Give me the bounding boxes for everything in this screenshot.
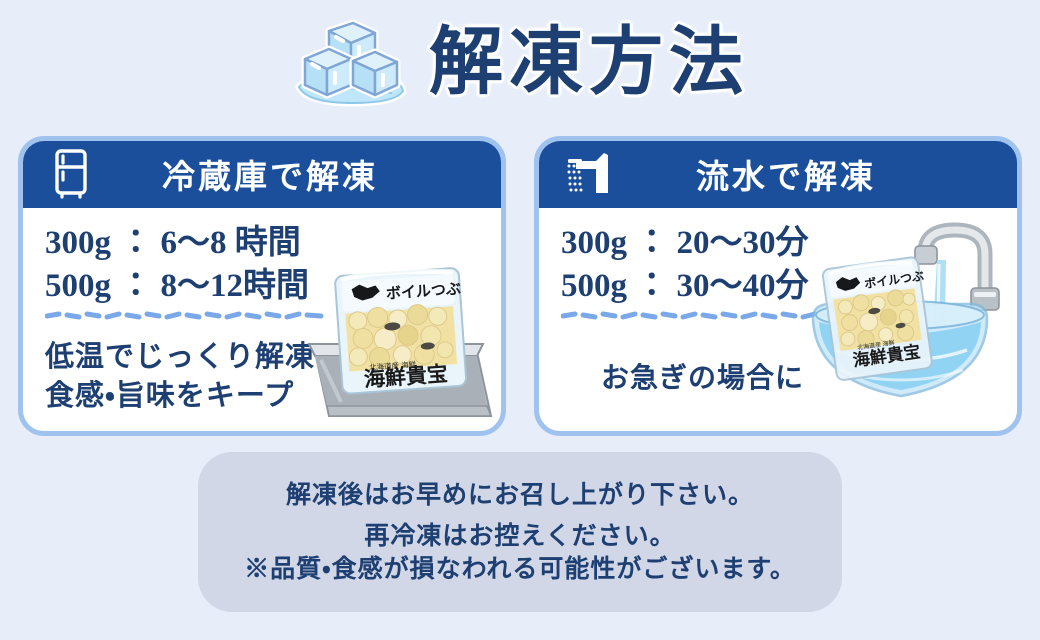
ice-cubes-icon xyxy=(291,17,411,109)
notice-line-1: 解凍後はお早めにお召し上がり下さい。 xyxy=(286,480,754,511)
card-fridge: 冷蔵庫で解凍 300g ： 6〜8 時間 500g ： 8〜12時間 低温でじっ… xyxy=(18,136,506,436)
notice-panel: 解凍後はお早めにお召し上がり下さい。 再冷凍はお控えください。 ※品質・食感が損… xyxy=(198,452,842,612)
card-running-water-body: 300g ： 20〜30分 500g ： 30〜40分 お急ぎの場合に xyxy=(539,208,1017,434)
package-in-water-bowl-illustration: ボイルつぶ xyxy=(805,210,1015,425)
notice-secondary-group: 再冷凍はお控えください。 ※品質・食感が損なわれる可能性がございます。 xyxy=(244,521,796,585)
dashed-divider xyxy=(45,308,335,325)
method-cards: 冷蔵庫で解凍 300g ： 6〜8 時間 500g ： 8〜12時間 低温でじっ… xyxy=(18,136,1022,436)
card-running-water-header: 流水で解凍 xyxy=(538,140,1018,208)
infographic-root: 解凍方法 冷蔵庫で解凍 300g ： 6〜8 時 xyxy=(0,0,1040,640)
notice-line-3: ※品質・食感が損なわれる可能性がございます。 xyxy=(244,554,796,585)
card-fridge-title: 冷蔵庫で解凍 xyxy=(98,150,488,198)
card-running-water-title: 流水で解凍 xyxy=(614,150,1004,198)
card-fridge-header: 冷蔵庫で解凍 xyxy=(22,140,502,208)
card-fridge-body: 300g ： 6〜8 時間 500g ： 8〜12時間 低温でじっくり解凍 食感… xyxy=(23,208,501,434)
page-title: 解凍方法 xyxy=(429,26,749,100)
frozen-package-on-tray-illustration: ボイルつぶ xyxy=(301,256,497,428)
notice-line-2: 再冷凍はお控えください。 xyxy=(244,521,796,552)
faucet-icon xyxy=(560,149,614,199)
page-title-row: 解凍方法 xyxy=(0,8,1040,118)
card-running-water: 流水で解凍 300g ： 20〜30分 500g ： 30〜40分 お急ぎの場合… xyxy=(534,136,1022,436)
refrigerator-icon xyxy=(44,149,98,199)
